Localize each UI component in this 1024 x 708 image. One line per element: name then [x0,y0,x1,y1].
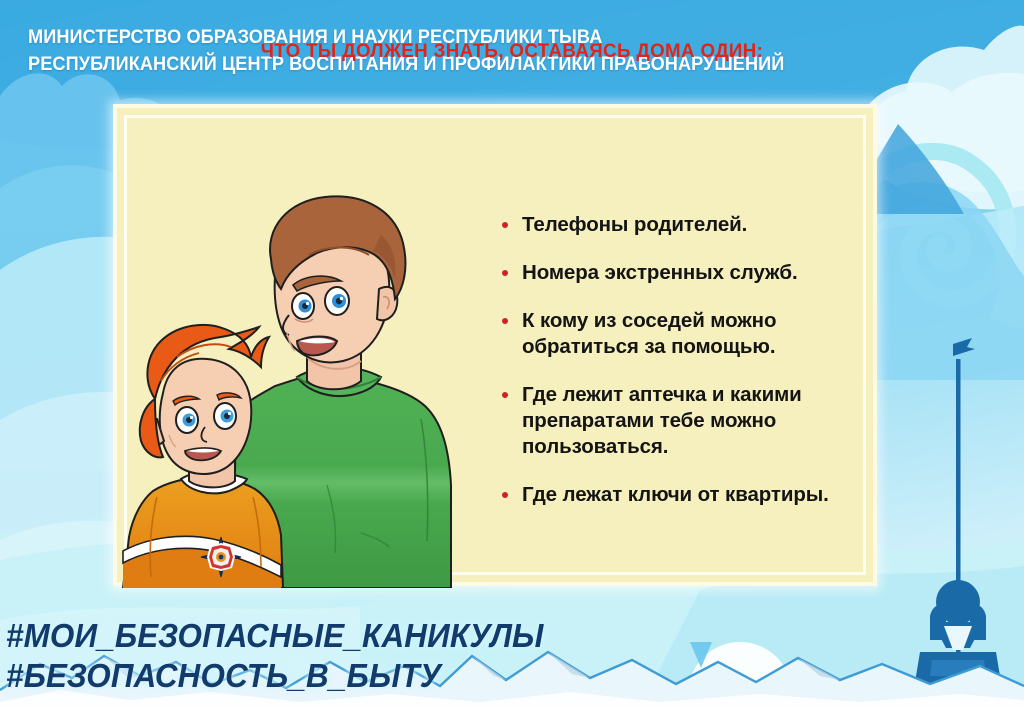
hashtag-holidays: #МОИ_БЕЗОПАСНЫЕ_КАНИКУЛЫ [6,616,544,656]
bullet-dot-icon [502,318,508,324]
bullet-dot-icon [502,270,508,276]
bullet-dot-icon [502,492,508,498]
list-item: Где лежат ключи от квартиры. [498,482,848,508]
bullet-dot-icon [502,222,508,228]
list-item-label: Телефоны родителей. [522,213,747,236]
list-item-label: Номера экстренных служб. [522,261,798,284]
list-item: К кому из соседей можно обратиться за по… [498,308,848,360]
hashtag-block: #МОИ_БЕЗОПАСНЫЕ_КАНИКУЛЫ #БЕЗОПАСНОСТЬ_В… [6,616,544,696]
list-item-label: К кому из соседей можно обратиться за по… [522,309,776,358]
poster-canvas: МИНИСТЕРСТВО ОБРАЗОВАНИЯ И НАУКИ РЕСПУБЛ… [0,0,1024,708]
safety-checklist: Телефоны родителей. Номера экстренных сл… [498,212,848,508]
list-item: Номера экстренных служб. [498,260,848,286]
card-title: ЧТО ТЫ ДОЛЖЕН ЗНАТЬ, ОСТАВАЯСЬ ДОМА ОДИН… [20,40,1003,63]
family-illustration [121,185,501,588]
list-item-label: Где лежат ключи от квартиры. [522,483,829,506]
hashtag-home-safety: #БЕЗОПАСНОСТЬ_В_БЫТУ [6,656,544,696]
list-item: Телефоны родителей. [498,212,848,238]
list-item-label: Где лежит аптечка и какими препаратами т… [522,383,802,458]
bullet-dot-icon [502,392,508,398]
list-item: Где лежит аптечка и какими препаратами т… [498,382,848,460]
